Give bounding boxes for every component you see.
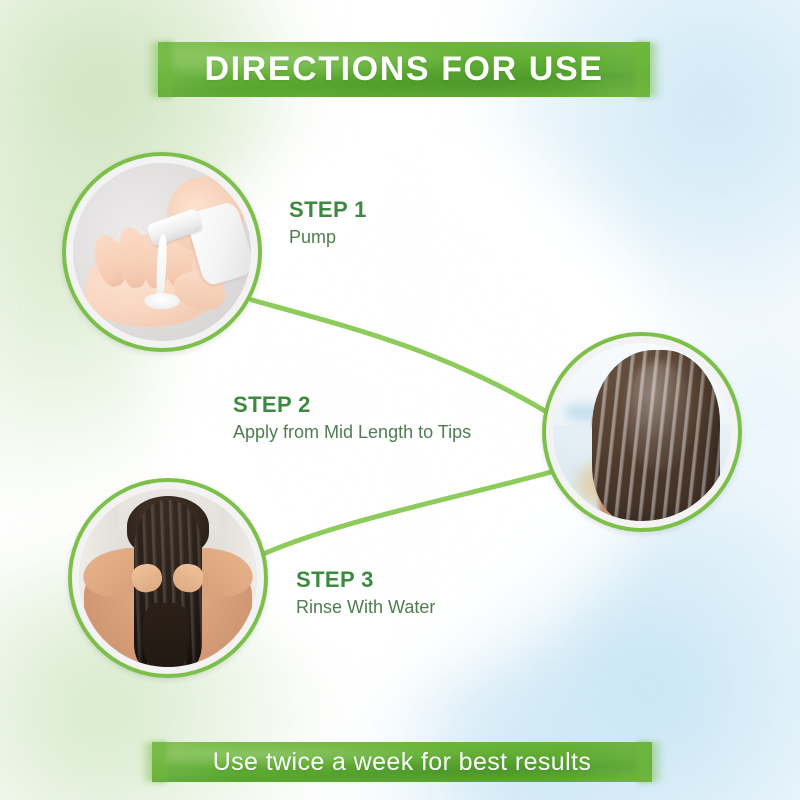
- step-2-image-circle: [542, 332, 742, 532]
- step-3-photo: [79, 489, 257, 667]
- step-2-photo: [553, 343, 731, 521]
- step-3-image-circle: [68, 478, 268, 678]
- product-pool-shape: [144, 293, 180, 309]
- step-1-description: Pump: [289, 227, 367, 249]
- directions-for-use-poster: DIRECTIONS FOR USE STEP 1 Pump: [0, 0, 800, 800]
- step-1-image-circle: [62, 152, 262, 352]
- step-3-title: STEP 3: [296, 568, 435, 592]
- footer-tagline: Use twice a week for best results: [213, 748, 592, 777]
- step-1-photo: [73, 163, 251, 341]
- step-1-text-block: STEP 1 Pump: [289, 198, 367, 249]
- hair-tail-shape: [143, 603, 189, 667]
- step-2-description: Apply from Mid Length to Tips: [233, 422, 471, 444]
- connector-step2-to-step3: [250, 468, 566, 560]
- step-3-text-block: STEP 3 Rinse With Water: [296, 568, 435, 619]
- step-2-title: STEP 2: [233, 393, 471, 417]
- hair-sheen-highlight: [624, 361, 692, 471]
- step-3-description: Rinse With Water: [296, 597, 435, 619]
- step-2-text-block: STEP 2 Apply from Mid Length to Tips: [233, 393, 471, 444]
- step-1-title: STEP 1: [289, 198, 367, 222]
- footer-banner: Use twice a week for best results: [152, 742, 652, 782]
- page-title: DIRECTIONS FOR USE: [204, 50, 603, 89]
- header-banner: DIRECTIONS FOR USE: [158, 42, 650, 97]
